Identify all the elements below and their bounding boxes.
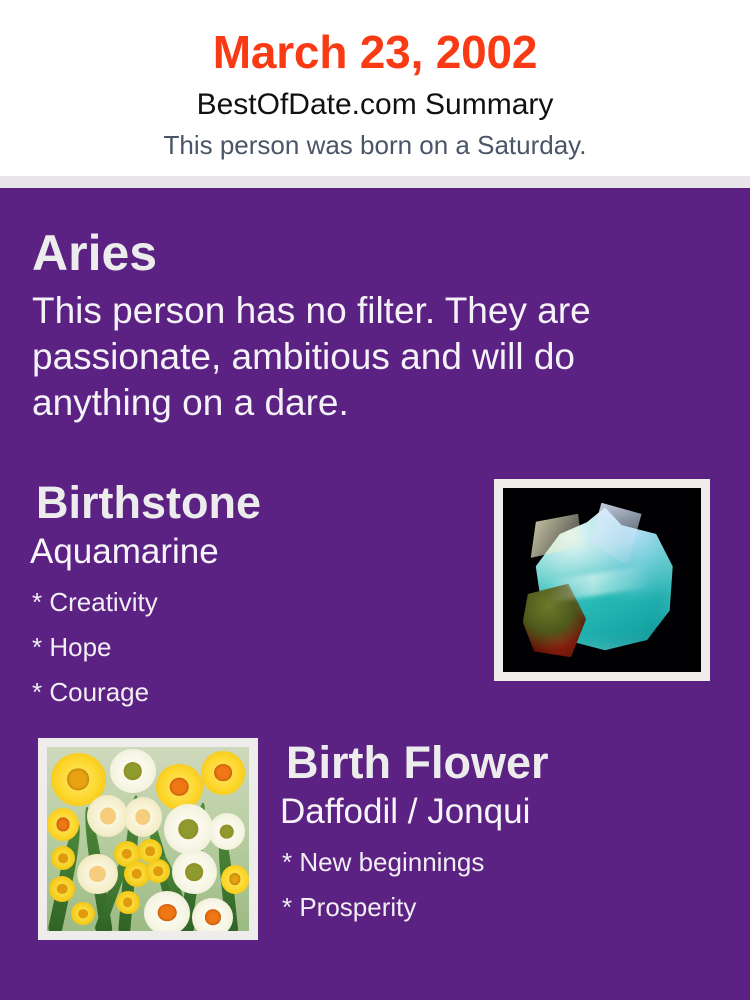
page-header: March 23, 2002 BestOfDate.com Summary Th… (0, 0, 750, 176)
list-item: * New beginnings (282, 840, 726, 885)
daffodil-bloom-icon (144, 891, 190, 931)
list-item: * Hope (32, 625, 476, 670)
daffodil-bloom-icon (192, 898, 232, 931)
daffodil-bloom-icon (71, 902, 95, 926)
daffodil-flowers-icon (47, 747, 249, 931)
daffodil-bloom-icon (124, 797, 162, 837)
birth-flower-section: Birth Flower Daffodil / Jonqui * New beg… (286, 736, 726, 930)
daffodil-bloom-icon (201, 751, 245, 795)
birth-flower-heading: Birth Flower (286, 736, 726, 790)
zodiac-description: This person has no filter. They are pass… (32, 288, 662, 426)
daffodil-bloom-icon (110, 749, 156, 793)
birth-flower-photo-frame (38, 738, 258, 940)
list-item: * Creativity (32, 580, 476, 625)
daffodil-bloom-icon (47, 808, 79, 841)
aquamarine-crystal-icon (503, 488, 701, 672)
daffodil-bloom-icon (156, 764, 202, 810)
page-title: March 23, 2002 (0, 24, 750, 80)
birth-flower-trait-list: * New beginnings * Prosperity (282, 840, 726, 930)
birthstone-trait-list: * Creativity * Hope * Courage (32, 580, 476, 715)
site-summary-label: BestOfDate.com Summary (0, 86, 750, 124)
daffodil-bloom-icon (221, 865, 249, 894)
daffodil-bloom-icon (77, 854, 117, 894)
list-item: * Courage (32, 670, 476, 715)
header-divider (0, 176, 750, 188)
birthstone-section: Birthstone Aquamarine * Creativity * Hop… (36, 476, 476, 715)
birth-flower-name: Daffodil / Jonqui (280, 790, 726, 834)
list-item: * Prosperity (282, 885, 726, 930)
daffodil-bloom-icon (164, 804, 212, 854)
daffodil-bloom-icon (172, 850, 216, 894)
daffodil-bloom-icon (209, 813, 245, 850)
zodiac-sign-name: Aries (32, 224, 157, 282)
birthstone-photo-frame (494, 479, 710, 681)
birthstone-heading: Birthstone (36, 476, 476, 530)
daffodil-bloom-icon (87, 795, 127, 837)
summary-page: March 23, 2002 BestOfDate.com Summary Th… (0, 0, 750, 1000)
daffodil-bloom-icon (116, 891, 140, 915)
daffodil-bloom-icon (49, 876, 75, 902)
birthstone-name: Aquamarine (30, 530, 476, 574)
born-day-text: This person was born on a Saturday. (0, 128, 750, 162)
